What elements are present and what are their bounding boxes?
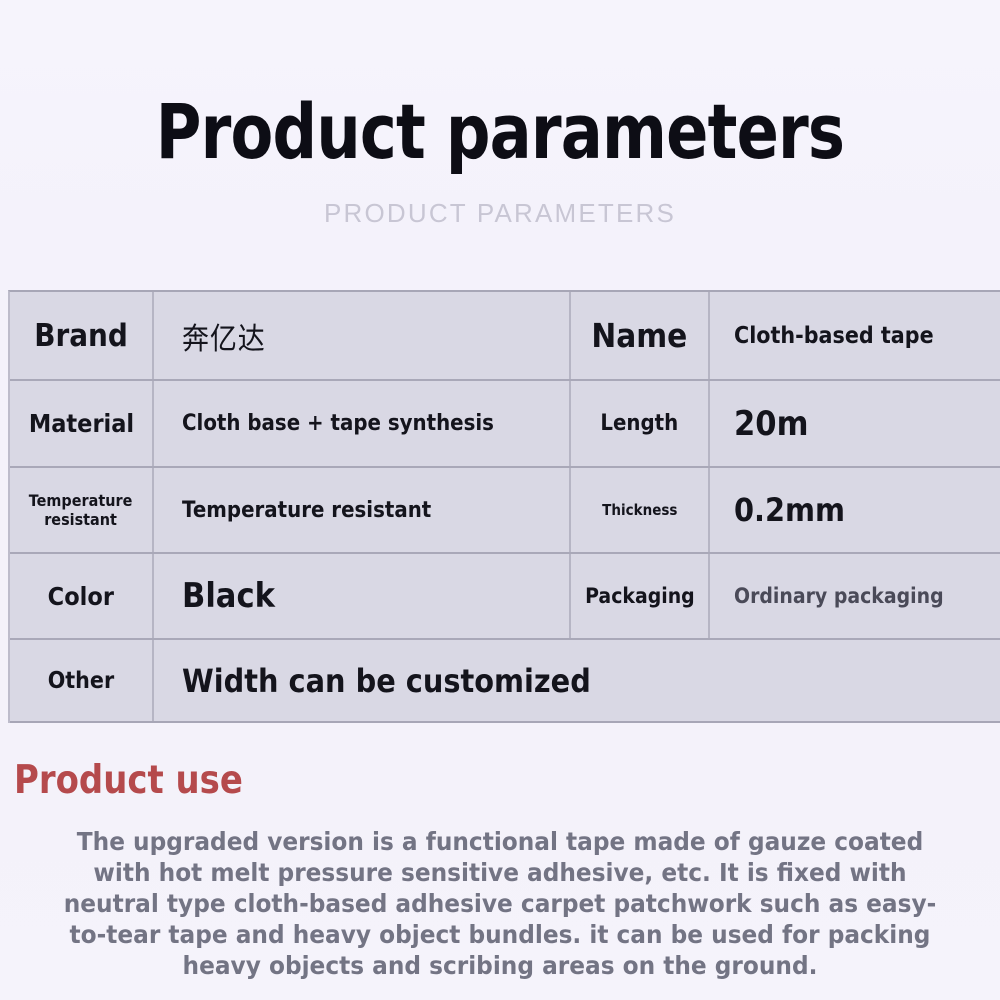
value-length: 20m [734, 404, 808, 444]
value-other: Width can be customized [182, 662, 591, 700]
table-row: Brand 奔亿达 Name Cloth-based tape [10, 292, 1000, 381]
label-thickness: Thickness [602, 501, 677, 519]
cell-label-brand: Brand [10, 292, 154, 379]
cell-value-other: Width can be customized [154, 640, 1000, 721]
value-material: Cloth base + tape synthesis [182, 411, 494, 436]
cell-value-packaging: Ordinary packaging [710, 554, 1000, 638]
label-color: Color [48, 582, 114, 611]
table-row: Temperature resistant Temperature resist… [10, 468, 1000, 554]
cell-label-packaging: Packaging [571, 554, 710, 638]
cell-label-name: Name [571, 292, 710, 379]
label-length: Length [601, 411, 679, 436]
value-name: Cloth-based tape [734, 323, 934, 349]
product-use-description: The upgraded version is a functional tap… [55, 826, 944, 981]
page-title: Product parameters [90, 88, 910, 176]
parameters-table: Brand 奔亿达 Name Cloth-based tape Material… [8, 290, 1000, 723]
cell-value-temperature-resistant: Temperature resistant [154, 468, 571, 552]
label-name: Name [592, 316, 688, 355]
table-row: Color Black Packaging Ordinary packaging [10, 554, 1000, 640]
cell-value-color: Black [154, 554, 571, 638]
value-color: Black [182, 576, 275, 616]
value-brand: 奔亿达 [182, 314, 266, 358]
label-packaging: Packaging [585, 584, 695, 608]
cell-value-length: 20m [710, 381, 1000, 466]
header-section: Product parameters PRODUCT PARAMETERS [0, 0, 1000, 272]
cell-value-material: Cloth base + tape synthesis [154, 381, 571, 466]
cell-value-thickness: 0.2mm [710, 468, 1000, 552]
cell-label-thickness: Thickness [571, 468, 710, 552]
product-parameters-page: Product parameters PRODUCT PARAMETERS Br… [0, 0, 1000, 1000]
label-material: Material [28, 409, 133, 438]
cell-label-temperature-resistant: Temperature resistant [10, 468, 154, 552]
page-subtitle: PRODUCT PARAMETERS [0, 198, 1000, 228]
product-use-title: Product use [14, 758, 243, 804]
value-thickness: 0.2mm [734, 491, 845, 529]
table-row: Other Width can be customized [10, 640, 1000, 723]
cell-label-color: Color [10, 554, 154, 638]
cell-label-other: Other [10, 640, 154, 721]
cell-value-brand: 奔亿达 [154, 292, 571, 379]
cell-label-material: Material [10, 381, 154, 466]
label-temperature-resistant: Temperature resistant [29, 491, 133, 529]
value-temperature-resistant: Temperature resistant [182, 498, 431, 523]
label-brand: Brand [34, 318, 128, 354]
cell-label-length: Length [571, 381, 710, 466]
value-packaging: Ordinary packaging [734, 584, 944, 608]
label-other: Other [48, 668, 114, 694]
cell-value-name: Cloth-based tape [710, 292, 1000, 379]
table-row: Material Cloth base + tape synthesis Len… [10, 381, 1000, 468]
